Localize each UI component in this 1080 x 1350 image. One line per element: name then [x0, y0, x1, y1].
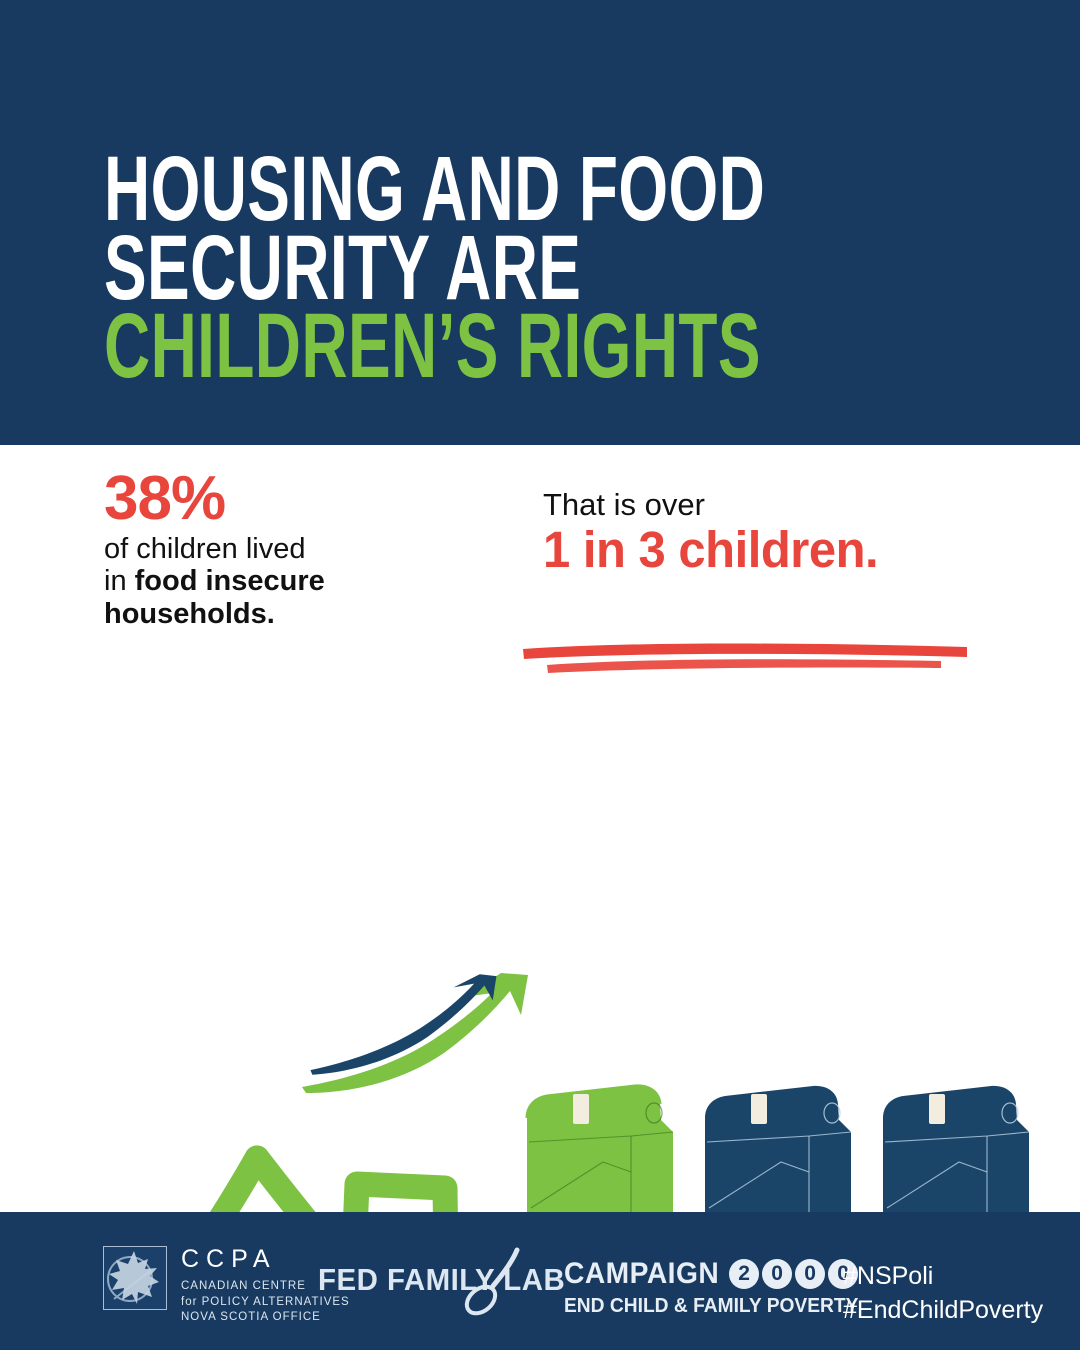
title-line-3: CHILDREN’S RIGHTS	[104, 303, 806, 391]
infographic-poster: HOUSING AND FOOD SECURITY ARE CHILDREN’S…	[0, 0, 1080, 1350]
header-banner: HOUSING AND FOOD SECURITY ARE CHILDREN’S…	[0, 0, 1080, 445]
rising-arrow-icon	[296, 971, 546, 1098]
campaign-top-row: CAMPAIGN 2 0 0 0	[564, 1257, 871, 1291]
red-underline-stroke	[521, 635, 971, 677]
stat-line-3-bold: households.	[104, 598, 275, 630]
stat-description: of children lived in food insecure house…	[104, 533, 394, 630]
callout-small-text: That is over	[543, 489, 1013, 522]
campaign-word: CAMPAIGN	[564, 1257, 719, 1291]
campaign-2000-logo[interactable]: CAMPAIGN 2 0 0 0 END CHILD & FAMILY POVE…	[564, 1257, 871, 1318]
campaign-digit-1: 0	[762, 1259, 792, 1289]
maple-leaf-icon	[103, 1246, 167, 1310]
hashtag-group: #NSPoli #EndChildPoverty	[843, 1260, 1043, 1328]
footer-bar: CCPA CANADIAN CENTRE for POLICY ALTERNAT…	[0, 1212, 1080, 1350]
main-content: 38% of children lived in food insecure h…	[0, 445, 1080, 1212]
ccpa-logo[interactable]: CCPA CANADIAN CENTRE for POLICY ALTERNAT…	[103, 1246, 350, 1326]
page-title: HOUSING AND FOOD SECURITY ARE CHILDREN’S…	[104, 146, 1004, 382]
callout-big-text: 1 in 3 children.	[543, 522, 994, 577]
food-insecurity-stat: 38% of children lived in food insecure h…	[104, 470, 394, 630]
ccpa-line-3: NOVA SCOTIA OFFICE	[181, 1310, 350, 1326]
hashtag-nspoli[interactable]: #NSPoli	[843, 1260, 1043, 1294]
one-in-three-callout: That is over 1 in 3 children.	[543, 489, 1013, 577]
stat-line-2-bold: food insecure	[135, 565, 325, 597]
campaign-digits: 2 0 0 0	[729, 1259, 858, 1289]
stat-line-2-prefix: in	[104, 565, 135, 597]
stat-line-1: of children lived	[104, 533, 306, 565]
campaign-digit-2: 0	[795, 1259, 825, 1289]
campaign-digit-0: 2	[729, 1259, 759, 1289]
stat-percent-value: 38%	[104, 470, 394, 529]
spoon-icon	[453, 1246, 537, 1318]
campaign-tagline: END CHILD & FAMILY POVERTY	[564, 1295, 858, 1318]
fed-family-lab-logo[interactable]: FED FAMILY LAB	[318, 1262, 578, 1298]
hashtag-endchildpoverty[interactable]: #EndChildPoverty	[843, 1294, 1043, 1328]
